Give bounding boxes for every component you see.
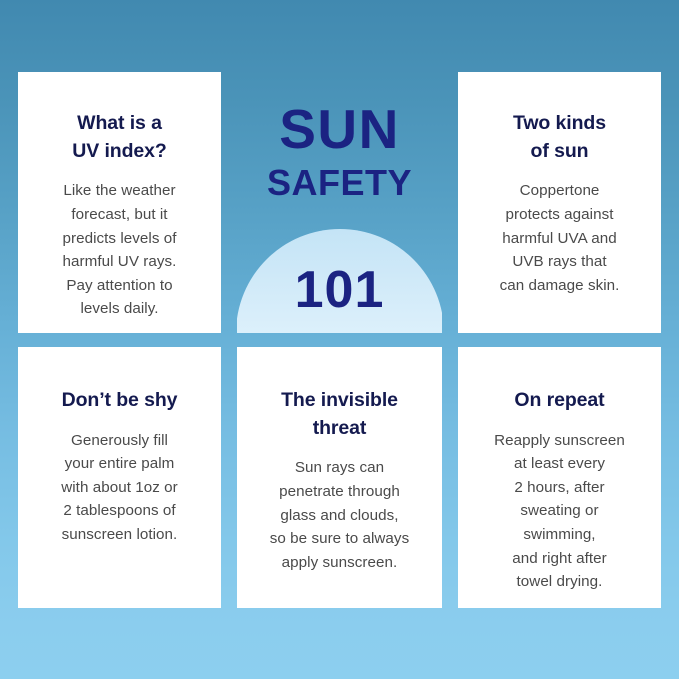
tip-card-invisible-threat: The invisible threat Sun rays can penetr… <box>237 347 442 608</box>
tip-card-dont-be-shy: Don’t be shy Generously fill your entire… <box>18 347 221 608</box>
tip-card-body: Like the weather forecast, but it predic… <box>62 179 176 320</box>
badge-number: 101 <box>295 246 385 316</box>
tip-card-on-repeat: On repeat Reapply sunscreen at least eve… <box>458 347 661 608</box>
semicircle-badge: 101 <box>237 229 442 333</box>
tip-card-title: The invisible threat <box>281 387 398 442</box>
tip-card-body: Reapply sunscreen at least every 2 hours… <box>494 429 625 594</box>
tip-card-title: Don’t be shy <box>62 387 178 415</box>
poster-title-line1: SUN <box>279 102 400 157</box>
tips-grid: What is a UV index? Like the weather for… <box>18 72 661 608</box>
sun-safety-infographic: What is a UV index? Like the weather for… <box>0 0 679 679</box>
tip-card-two-kinds-of-sun: Two kinds of sun Coppertone protects aga… <box>458 72 661 333</box>
tip-card-body: Generously fill your entire palm with ab… <box>61 429 178 547</box>
tip-card-title: On repeat <box>514 387 604 415</box>
tip-card-body: Sun rays can penetrate through glass and… <box>270 456 409 574</box>
tip-card-title: Two kinds of sun <box>513 110 606 165</box>
poster-title-line2: SAFETY <box>267 165 412 201</box>
tip-card-body: Coppertone protects against harmful UVA … <box>500 179 620 297</box>
tip-card-uv-index: What is a UV index? Like the weather for… <box>18 72 221 333</box>
tip-card-title: What is a UV index? <box>72 110 166 165</box>
hero-title-block: SUN SAFETY 101 <box>237 72 442 333</box>
